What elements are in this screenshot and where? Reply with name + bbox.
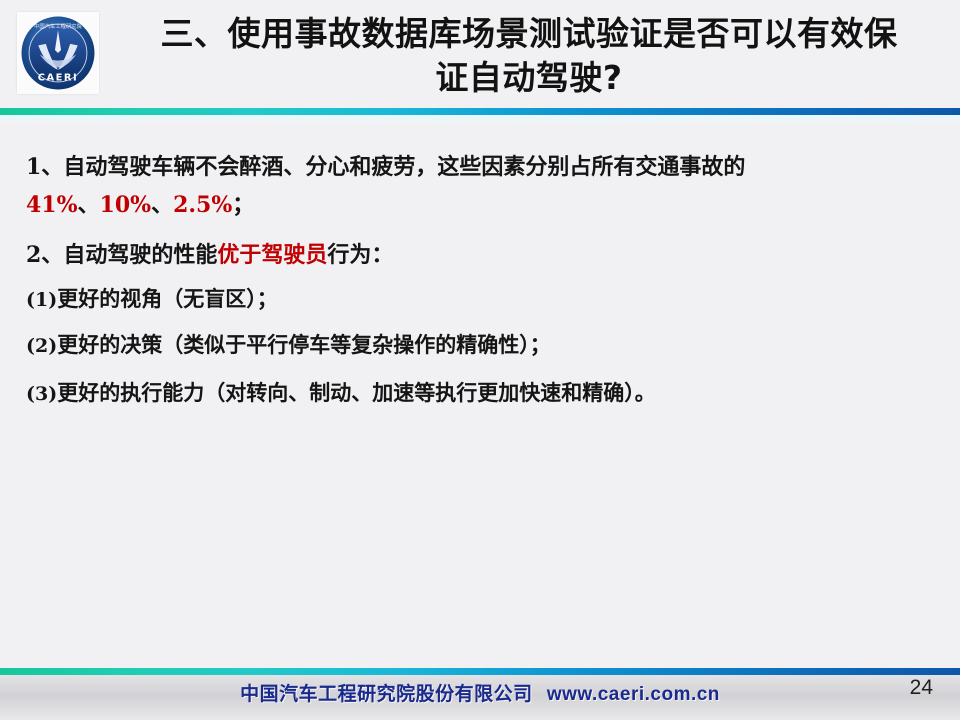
sub-item-3-index: (3) xyxy=(26,383,57,405)
percentage-distracted: 10% xyxy=(100,192,152,218)
bullet-1-text: 自动驾驶车辆不会醉酒、分心和疲劳，这些因素分别占所有交通事故的 xyxy=(63,155,745,180)
bullet-1-tail: ； xyxy=(232,193,254,218)
caeri-logo: CAERI 中国汽车工程研究院 xyxy=(17,12,99,94)
sub-item-1-text: 更好的视角（无盲区）； xyxy=(57,287,278,311)
sub-item-2: (2)更好的决策（类似于平行停车等复杂操作的精确性）； xyxy=(26,330,551,361)
sub-item-2-index: (2) xyxy=(26,335,57,357)
slide-root: CAERI 中国汽车工程研究院 三、使用事故数据库场景测试验证是否可以有效保 证… xyxy=(0,0,960,720)
bullet-2: 2、自动驾驶的性能优于驾驶员行为： xyxy=(26,240,393,271)
sub-item-1: (1)更好的视角（无盲区）； xyxy=(26,284,278,315)
percentage-sep-2: 、 xyxy=(151,193,173,218)
bullet-2-text-b: 行为： xyxy=(327,243,393,268)
svg-text:CAERI: CAERI xyxy=(38,72,79,83)
sub-item-1-index: (1) xyxy=(26,289,57,311)
sub-item-2-text: 更好的决策（类似于平行停车等复杂操作的精确性）； xyxy=(57,333,551,357)
page-number: 24 xyxy=(910,676,933,700)
percentage-sep-1: 、 xyxy=(78,193,100,218)
bullet-2-highlight: 优于驾驶员 xyxy=(217,243,327,268)
bullet-2-text-a: 自动驾驶的性能 xyxy=(63,243,217,268)
bullet-2-index: 2、 xyxy=(26,242,63,268)
bullet-1: 1、自动驾驶车辆不会醉酒、分心和疲劳，这些因素分别占所有交通事故的 xyxy=(26,152,745,183)
header-accent-rule xyxy=(0,108,960,115)
caeri-logo-icon: CAERI 中国汽车工程研究院 xyxy=(20,15,96,91)
percentage-fatigue: 2.5% xyxy=(173,192,232,218)
bullet-1-index: 1、 xyxy=(26,154,63,180)
footer-company-name: 中国汽车工程研究院股份有限公司 xyxy=(240,683,533,705)
slide-title: 三、使用事故数据库场景测试验证是否可以有效保 证自动驾驶? xyxy=(104,8,954,104)
slide-title-line-1: 三、使用事故数据库场景测试验证是否可以有效保 xyxy=(161,12,898,56)
sub-item-3-text: 更好的执行能力（对转向、制动、加速等执行更加快速和精确）。 xyxy=(57,381,656,405)
percentage-drunk: 41% xyxy=(26,192,78,218)
slide-title-line-2: 证自动驾驶? xyxy=(435,56,622,100)
slide-body: 1、自动驾驶车辆不会醉酒、分心和疲劳，这些因素分别占所有交通事故的 41%、10… xyxy=(0,122,960,662)
footer-accent-rule xyxy=(0,668,960,675)
bullet-1-percentages: 41%、10%、2.5%； xyxy=(26,190,254,221)
footer-website-link[interactable]: www.caeri.com.cn xyxy=(547,684,720,705)
slide-header: CAERI 中国汽车工程研究院 三、使用事故数据库场景测试验证是否可以有效保 证… xyxy=(0,0,960,108)
footer-branding: 中国汽车工程研究院股份有限公司 www.caeri.com.cn xyxy=(0,679,960,706)
sub-item-3: (3)更好的执行能力（对转向、制动、加速等执行更加快速和精确）。 xyxy=(26,378,656,409)
